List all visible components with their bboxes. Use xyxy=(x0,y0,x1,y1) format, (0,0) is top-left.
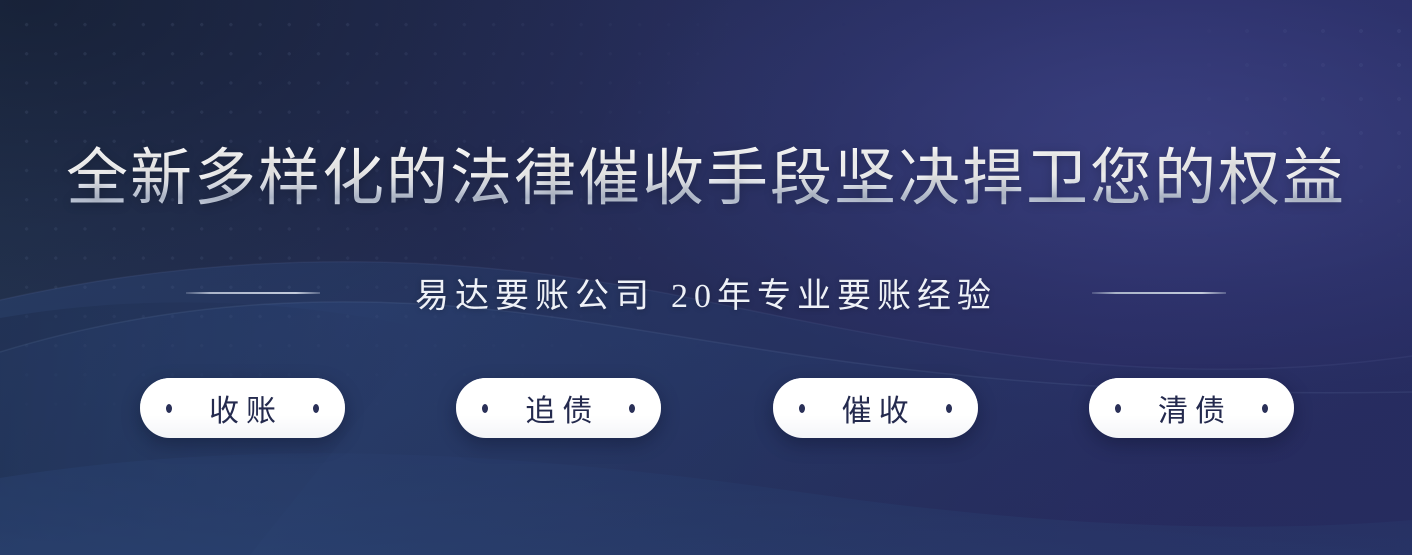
service-pill-label: 清债 xyxy=(1151,386,1232,430)
dot-ornament-right-icon xyxy=(946,404,952,413)
dot-ornament-right-icon xyxy=(629,404,635,413)
divider-line-right xyxy=(1092,292,1226,294)
service-pill-label: 收账 xyxy=(202,386,283,430)
service-pill-qingzhai[interactable]: 清债 xyxy=(1089,378,1294,438)
dot-ornament-left-icon xyxy=(482,404,488,413)
banner-headline: 全新多样化的法律催收手段坚决捍卫您的权益 xyxy=(0,146,1412,213)
subtitle-experience: 20年专业要账经验 xyxy=(671,278,997,315)
service-pill-zhuizhai[interactable]: 追债 xyxy=(456,378,661,438)
dot-ornament-right-icon xyxy=(313,404,319,413)
service-pill-cuishou[interactable]: 催收 xyxy=(773,378,978,438)
banner-subtitle-row: 易达要账公司20年专业要账经验 xyxy=(0,268,1412,317)
service-pill-row: 收账 追债 催收 清债 xyxy=(140,378,1294,438)
divider-line-left xyxy=(186,292,320,294)
service-pill-label: 追债 xyxy=(518,386,599,430)
dot-ornament-left-icon xyxy=(799,404,805,413)
dot-ornament-left-icon xyxy=(166,404,172,413)
subtitle-company: 易达要账公司 xyxy=(415,278,655,315)
service-pill-shouzhang[interactable]: 收账 xyxy=(140,378,345,438)
service-pill-label: 催收 xyxy=(835,386,916,430)
dot-ornament-left-icon xyxy=(1115,404,1121,413)
banner-subtitle: 易达要账公司20年专业要账经验 xyxy=(415,268,997,317)
promo-banner: 全新多样化的法律催收手段坚决捍卫您的权益 易达要账公司20年专业要账经验 收账 … xyxy=(0,0,1412,555)
dot-ornament-right-icon xyxy=(1262,404,1268,413)
